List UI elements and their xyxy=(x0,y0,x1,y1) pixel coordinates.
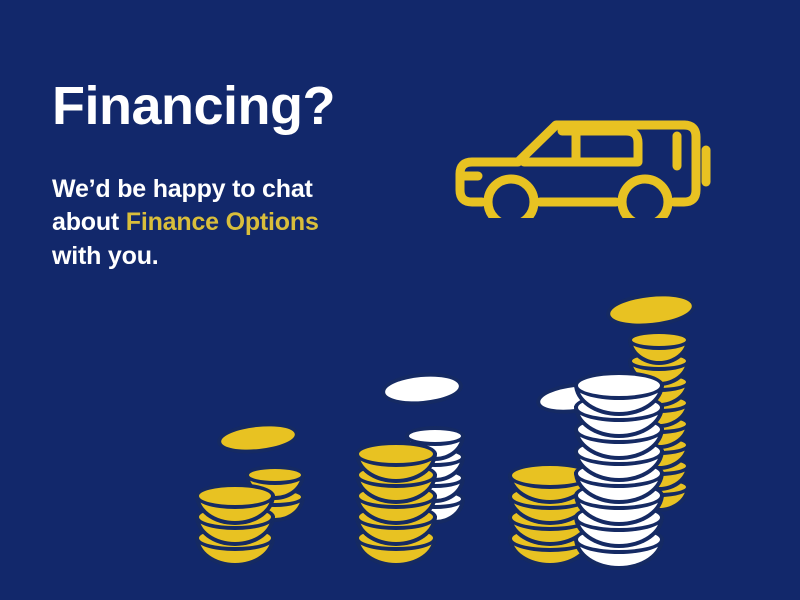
subcopy-line-2: about Finance Options xyxy=(52,206,432,240)
page-title: Financing? xyxy=(52,78,432,135)
financing-promo-slide: Financing? We’d be happy to chat about F… xyxy=(0,0,800,600)
coin-substack-front xyxy=(355,395,437,525)
coin-stacks-icon xyxy=(0,255,800,525)
car-suv-icon xyxy=(452,78,712,218)
coin-substack-front-center xyxy=(574,305,664,525)
coin-substack-front xyxy=(195,435,275,525)
finance-options-highlight: Finance Options xyxy=(126,208,319,236)
subcopy-line-1: We’d be happy to chat xyxy=(52,173,432,207)
text-block: Financing? We’d be happy to chat about F… xyxy=(52,78,432,273)
subcopy-line-2-prefix: about xyxy=(52,208,126,236)
coin-stack-medium xyxy=(355,360,470,525)
coin-stack-small xyxy=(195,405,310,525)
coin-stack-large xyxy=(508,275,708,525)
